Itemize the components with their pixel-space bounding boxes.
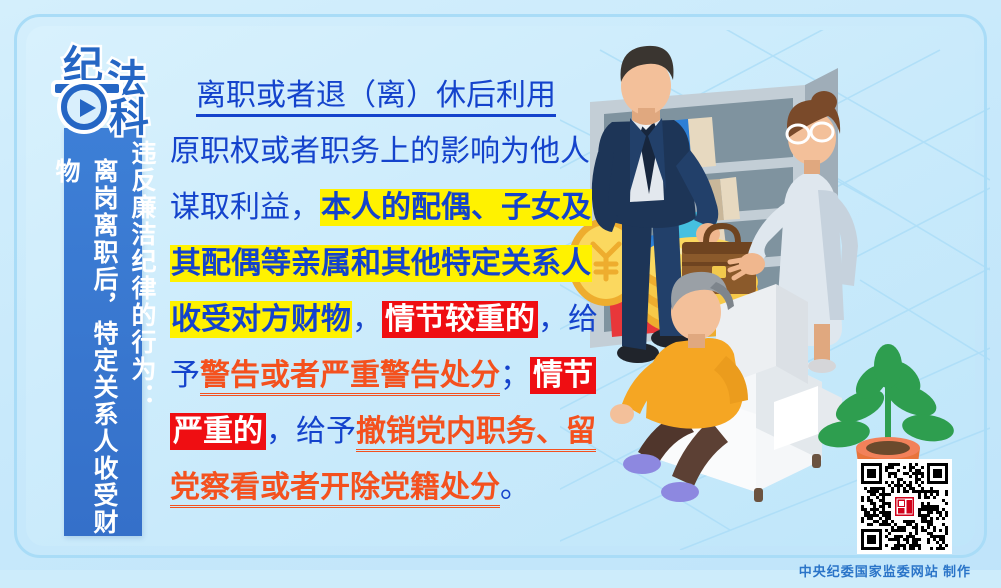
text-line-1: 离职或者退（离）休后利用	[170, 68, 582, 124]
text-segment-plain: 谋取利益，	[170, 191, 320, 224]
text-segment-plain: ，	[352, 303, 382, 336]
play-circle-icon	[61, 84, 107, 130]
text-line-3: 谋取利益，本人的配偶、子女及	[170, 180, 582, 236]
text-segment-hl-yellow: 本人的配偶、子女及	[320, 189, 592, 226]
text-line-8: 党察看或者开除党籍处分。	[170, 460, 582, 516]
text-segment-plain: 。	[500, 471, 530, 504]
logo-char-fa: 法	[107, 60, 147, 100]
program-logo: 纪 法 科	[55, 44, 163, 140]
text-segment-orange: 警告或者严重警告处分	[200, 359, 500, 396]
main-article-text: 离职或者退（离）休后利用原职权或者职务上的影响为他人谋取利益，本人的配偶、子女及…	[170, 68, 582, 516]
poster-root: 纪 法 科 违反廉洁纪律的行为： 离岗离职后，特定关系人收受财物 离职或者退（离…	[0, 0, 1001, 588]
text-line-6: 予警告或者严重警告处分；情节	[170, 348, 582, 404]
credit-text: 中央纪委国家监委网站 制作	[799, 561, 971, 580]
text-segment-hl-yellow: 收受对方财物	[170, 301, 352, 338]
qr-code[interactable]	[857, 459, 952, 554]
text-segment-orange: 撤销党内职务、留	[356, 415, 596, 452]
banner-column-left: 离岗离职后，特定关系人收受财物	[46, 136, 122, 536]
text-segment-hl-red: 情节较重的	[382, 301, 538, 338]
text-segment-plain: ，给	[538, 303, 598, 336]
text-line-7: 严重的，给予撤销党内职务、留	[170, 404, 582, 460]
logo-char-ke: 科	[109, 98, 149, 138]
text-line-5: 收受对方财物，情节较重的，给	[170, 292, 582, 348]
text-segment-plain: ，给予	[266, 415, 356, 448]
text-line-2: 原职权或者职务上的影响为他人	[170, 124, 582, 180]
vertical-banner: 违反廉洁纪律的行为： 离岗离职后，特定关系人收受财物	[64, 128, 142, 536]
text-segment-plain: 予	[170, 359, 200, 392]
text-line-4: 其配偶等亲属和其他特定关系人	[170, 236, 582, 292]
banner-column-right: 违反廉洁纪律的行为：	[122, 136, 160, 536]
text-segment-u-blue: 离职或者退（离）休后利用	[196, 79, 556, 117]
text-segment-plain: 原职权或者职务上的影响为他人	[170, 135, 590, 168]
text-segment-hl-yellow: 其配偶等亲属和其他特定关系人	[170, 245, 592, 282]
logo-char-ji: 纪	[63, 46, 103, 86]
text-segment-orange: 党察看或者开除党籍处分	[170, 471, 500, 508]
text-segment-hl-red: 严重的	[170, 413, 266, 450]
text-segment-plain: ；	[500, 359, 530, 392]
text-segment-hl-red: 情节	[530, 357, 596, 394]
